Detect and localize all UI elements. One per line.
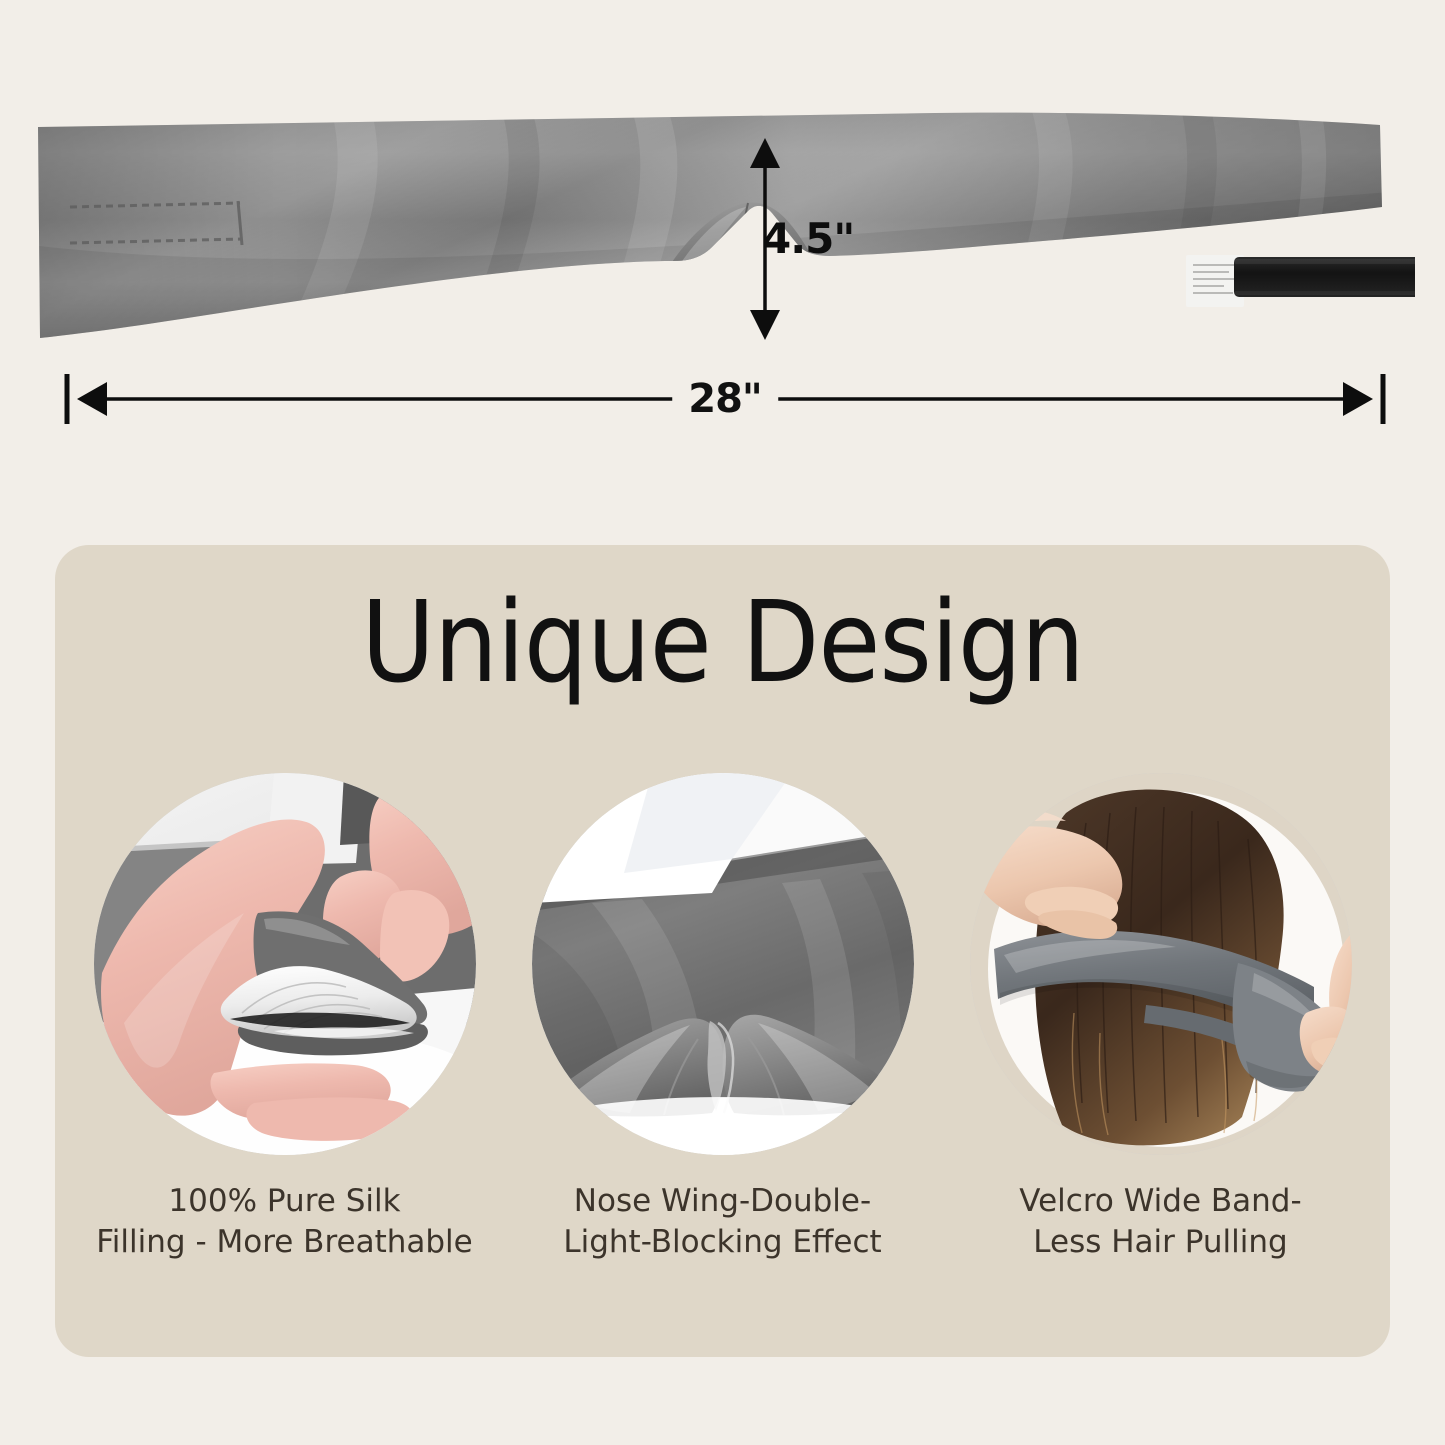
feature-list: 100% Pure Silk Filling - More Breathable [55, 773, 1390, 1263]
silk-filling-illustration [94, 773, 476, 1155]
hands-holding-silk-filling-photo [94, 773, 476, 1155]
feature-item-silk-filling: 100% Pure Silk Filling - More Breathable [94, 773, 476, 1263]
sleep-mask-illustration [30, 95, 1415, 355]
feature-caption: Velcro Wide Band- Less Hair Pulling [1019, 1181, 1301, 1263]
velcro-strap [1234, 257, 1415, 297]
nose-wing-closeup-illustration [532, 773, 914, 1155]
sleep-mask-product-image [30, 95, 1415, 355]
width-dimension-label: 28" [672, 379, 778, 419]
feature-caption: Nose Wing-Double- Light-Blocking Effect [563, 1181, 881, 1263]
product-dimension-section: 4.5" 28" [0, 0, 1445, 530]
feature-item-nose-wing: Nose Wing-Double- Light-Blocking Effect [532, 773, 914, 1263]
product-infographic: 4.5" 28" Unique Design [0, 0, 1445, 1445]
woman-wearing-mask-illustration [970, 773, 1352, 1155]
height-dimension-label: 4.5" [762, 218, 854, 260]
page-title: Unique Design [55, 587, 1390, 699]
feature-caption: 100% Pure Silk Filling - More Breathable [96, 1181, 473, 1263]
unique-design-panel: Unique Design [55, 545, 1390, 1357]
width-dimension-arrow: 28" [55, 368, 1395, 430]
woman-wearing-mask-photo [970, 773, 1352, 1155]
feature-item-velcro-band: Velcro Wide Band- Less Hair Pulling [970, 773, 1352, 1263]
nose-wing-closeup-photo [532, 773, 914, 1155]
